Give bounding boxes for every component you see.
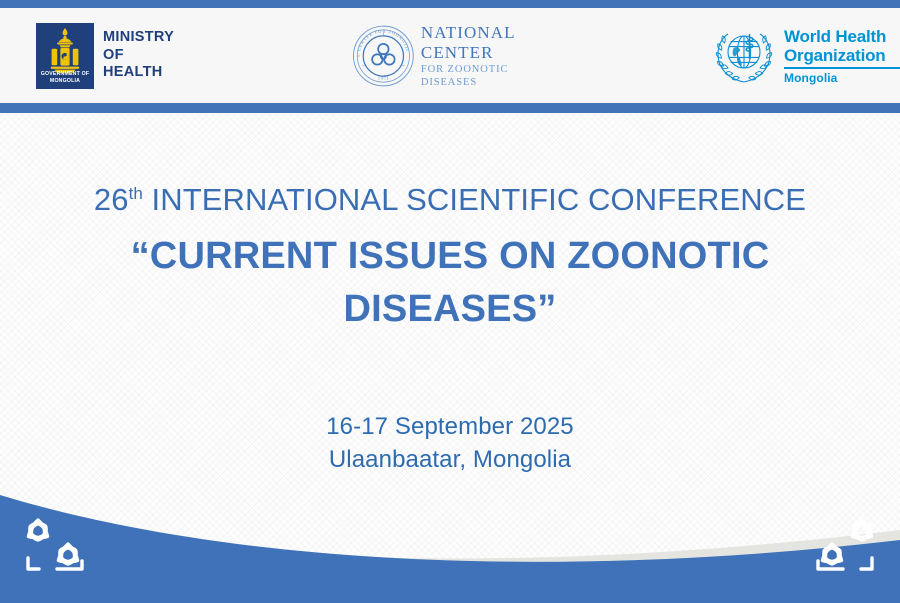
national-center-name: NATIONAL CENTER FOR ZOONOTIC DISEASES xyxy=(421,23,563,89)
endless-knot-ornament-left xyxy=(16,511,98,585)
who-divider xyxy=(784,67,900,69)
ministry-name-line-2: OF HEALTH xyxy=(103,47,174,82)
emblem-caption-line-2: MONGOLIA xyxy=(36,78,94,85)
who-wordmark: World Health Organization Mongolia xyxy=(784,27,900,85)
who-country-label: Mongolia xyxy=(784,71,900,85)
who-emblem-icon xyxy=(711,25,777,87)
edition-number: 26 xyxy=(94,182,129,217)
footer-wave-decoration xyxy=(0,468,900,603)
edition-ordinal-suffix: th xyxy=(129,184,143,203)
who-name-line-1: World Health xyxy=(784,27,900,46)
event-details: 16-17 September 2025 Ulaanbaatar, Mongol… xyxy=(0,410,900,476)
edition-rest: INTERNATIONAL SCIENTIFIC CONFERENCE xyxy=(143,182,806,217)
nczd-name-line-1: NATIONAL CENTER xyxy=(421,23,563,63)
theme-line-2: DISEASES” xyxy=(0,283,900,336)
soyombo-icon xyxy=(36,25,94,77)
event-dates: 16-17 September 2025 xyxy=(0,410,900,443)
wave-shapes xyxy=(0,468,900,603)
logo-header-band: GOVERNMENT OF MONGOLIA MINISTRY OF HEALT… xyxy=(0,8,900,103)
nczd-name-line-2: FOR ZOONOTIC DISEASES xyxy=(421,63,563,89)
conference-theme: “CURRENT ISSUES ON ZOONOTIC DISEASES” xyxy=(0,230,900,336)
emblem-caption-line-1: GOVERNMENT OF xyxy=(36,71,94,78)
conference-edition-line: 26th INTERNATIONAL SCIENTIFIC CONFERENCE xyxy=(0,174,900,220)
nczd-seal-icon: NATIONAL CENTER FOR ZOONOTIC DISEASES 19… xyxy=(352,18,415,94)
top-accent-bar xyxy=(0,0,900,8)
who-logo: World Health Organization Mongolia xyxy=(711,8,900,103)
national-center-zoonotic-diseases-logo: NATIONAL CENTER FOR ZOONOTIC DISEASES 19… xyxy=(352,8,563,103)
seal-year-text: 1951 xyxy=(378,75,389,80)
ministry-name-line-1: MINISTRY xyxy=(103,29,174,47)
title-block: 26th INTERNATIONAL SCIENTIFIC CONFERENCE… xyxy=(0,174,900,336)
endless-knot-ornament-right xyxy=(802,511,884,585)
conference-title-slide: GOVERNMENT OF MONGOLIA MINISTRY OF HEALT… xyxy=(0,0,900,603)
header-bottom-accent-bar xyxy=(0,103,900,113)
ministry-of-health-name: MINISTRY OF HEALTH xyxy=(103,29,174,82)
theme-line-1: “CURRENT ISSUES ON ZOONOTIC xyxy=(0,230,900,283)
mongolia-state-emblem: GOVERNMENT OF MONGOLIA xyxy=(36,23,94,89)
who-name-line-2: Organization xyxy=(784,46,900,65)
ministry-of-health-logo: GOVERNMENT OF MONGOLIA MINISTRY OF HEALT… xyxy=(36,8,174,103)
emblem-caption: GOVERNMENT OF MONGOLIA xyxy=(36,71,94,85)
